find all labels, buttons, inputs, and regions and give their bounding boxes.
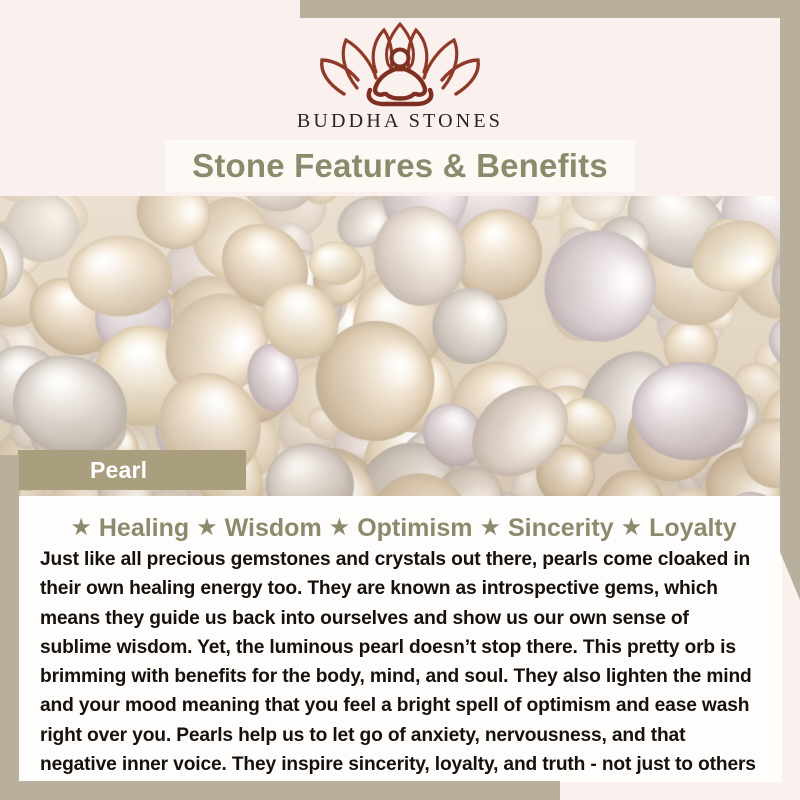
stone-name: Pearl bbox=[90, 457, 147, 484]
benefit-label: Optimism bbox=[357, 514, 472, 543]
title-banner: Stone Features & Benefits bbox=[165, 140, 635, 192]
description-text: Just like all precious gemstones and cry… bbox=[40, 545, 760, 800]
brand-name: BUDDHA STONES bbox=[0, 110, 800, 133]
corner-decoration-right bbox=[780, 0, 800, 600]
stone-name-band: Pearl bbox=[18, 450, 246, 490]
star-icon: ★ bbox=[70, 516, 92, 540]
star-icon: ★ bbox=[329, 516, 351, 540]
content-panel: ★Healing★Wisdom★Optimism★Sincerity★Loyal… bbox=[18, 496, 782, 782]
infographic-page: BUDDHA STONES Stone Features & Benefits … bbox=[0, 0, 800, 800]
corner-decoration-bottom bbox=[0, 781, 560, 800]
page-title: Stone Features & Benefits bbox=[192, 147, 608, 185]
star-icon: ★ bbox=[479, 516, 501, 540]
benefit-label: Healing bbox=[99, 514, 189, 543]
benefits-list: ★Healing★Wisdom★Optimism★Sincerity★Loyal… bbox=[18, 496, 782, 542]
benefit-label: Sincerity bbox=[508, 514, 614, 543]
benefit-label: Wisdom bbox=[225, 514, 322, 543]
star-icon: ★ bbox=[196, 516, 218, 540]
brand-logo: BUDDHA STONES bbox=[0, 16, 800, 133]
corner-decoration-top bbox=[300, 0, 800, 18]
star-icon: ★ bbox=[621, 516, 643, 540]
lotus-meditation-icon bbox=[310, 16, 490, 108]
benefit-label: Loyalty bbox=[649, 514, 737, 543]
corner-decoration-left bbox=[0, 455, 19, 800]
